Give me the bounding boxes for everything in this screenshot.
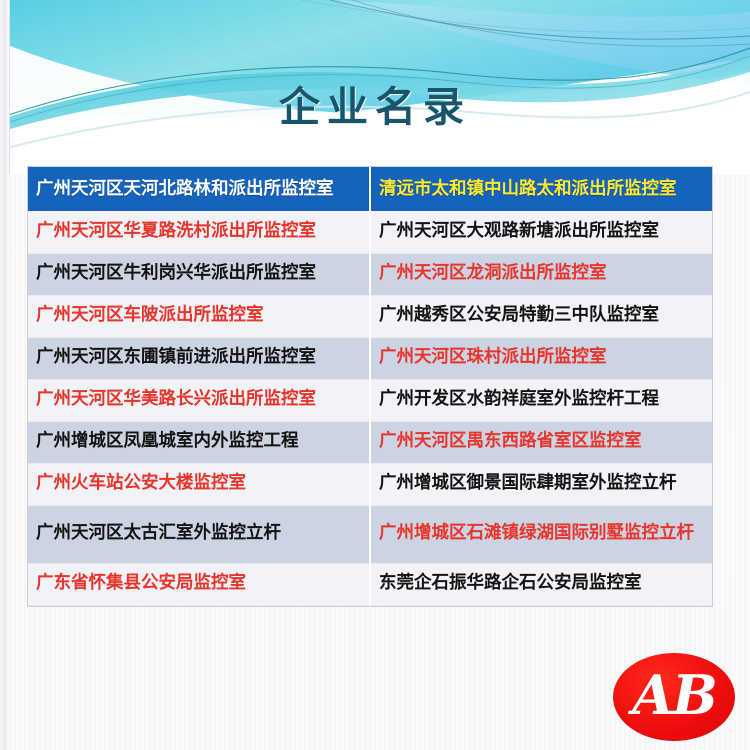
table-cell-left: 广州天河区牛利岗兴华派出所监控室 <box>28 253 370 295</box>
table-cell-right: 广州越秀区公安局特勤三中队监控室 <box>370 295 712 337</box>
table-cell-left: 广州天河区华夏路洗村派出所监控室 <box>28 211 370 253</box>
table-row: 广州火车站公安大楼监控室广州增城区御景国际肆期室外监控立杆 <box>28 463 712 505</box>
table-cell-left: 广州天河区太古汇室外监控立杆 <box>28 505 370 563</box>
table-body: 广州天河区天河北路林和派出所监控室 清远市太和镇中山路太和派出所监控室 广州天河… <box>28 167 712 605</box>
table-cell-right: 广州增城区石滩镇绿湖国际别墅监控立杆 <box>370 505 712 563</box>
slide-canvas: 企业名录 广州天河区天河北路林和派出所监控室 清远市太和镇中山路太和派出所监控室… <box>0 0 750 750</box>
table-cell-right: 广州天河区禺东西路省室区监控室 <box>370 421 712 463</box>
table-row: 广州天河区华美路长兴派出所监控室广州开发区水韵祥庭室外监控杆工程 <box>28 379 712 421</box>
table-cell-right: 广州开发区水韵祥庭室外监控杆工程 <box>370 379 712 421</box>
header-cell-right: 清远市太和镇中山路太和派出所监控室 <box>370 167 712 211</box>
table-cell-right: 东莞企石振华路企石公安局监控室 <box>370 563 712 605</box>
table-cell-left: 广州增城区凤凰城室内外监控工程 <box>28 421 370 463</box>
table-cell-right: 广州天河区龙洞派出所监控室 <box>370 253 712 295</box>
header-cell-left: 广州天河区天河北路林和派出所监控室 <box>28 167 370 211</box>
table-cell-right: 广州增城区御景国际肆期室外监控立杆 <box>370 463 712 505</box>
table-cell-left: 广州天河区东圃镇前进派出所监控室 <box>28 337 370 379</box>
table-row: 广州天河区东圃镇前进派出所监控室广州天河区珠村派出所监控室 <box>28 337 712 379</box>
table-row: 广东省怀集县公安局监控室东莞企石振华路企石公安局监控室 <box>28 563 712 605</box>
table-row: 广州天河区太古汇室外监控立杆广州增城区石滩镇绿湖国际别墅监控立杆 <box>28 505 712 563</box>
table-row: 广州天河区车陂派出所监控室广州越秀区公安局特勤三中队监控室 <box>28 295 712 337</box>
table-cell-right: 广州天河区珠村派出所监控室 <box>370 337 712 379</box>
enterprise-directory-table: 广州天河区天河北路林和派出所监控室 清远市太和镇中山路太和派出所监控室 广州天河… <box>28 167 712 606</box>
table-cell-left: 广州天河区车陂派出所监控室 <box>28 295 370 337</box>
table-cell-right: 广州天河区大观路新塘派出所监控室 <box>370 211 712 253</box>
table-header-row: 广州天河区天河北路林和派出所监控室 清远市太和镇中山路太和派出所监控室 <box>28 167 712 211</box>
table-row: 广州天河区华夏路洗村派出所监控室广州天河区大观路新塘派出所监控室 <box>28 211 712 253</box>
table-row: 广州增城区凤凰城室内外监控工程广州天河区禺东西路省室区监控室 <box>28 421 712 463</box>
ab-logo-text: AB <box>632 668 716 722</box>
page-title: 企业名录 <box>0 73 750 133</box>
table-cell-left: 广州火车站公安大楼监控室 <box>28 463 370 505</box>
table-cell-left: 广州天河区华美路长兴派出所监控室 <box>28 379 370 421</box>
table-cell-left: 广东省怀集县公安局监控室 <box>28 563 370 605</box>
ab-logo: AB <box>613 653 735 741</box>
table-row: 广州天河区牛利岗兴华派出所监控室广州天河区龙洞派出所监控室 <box>28 253 712 295</box>
